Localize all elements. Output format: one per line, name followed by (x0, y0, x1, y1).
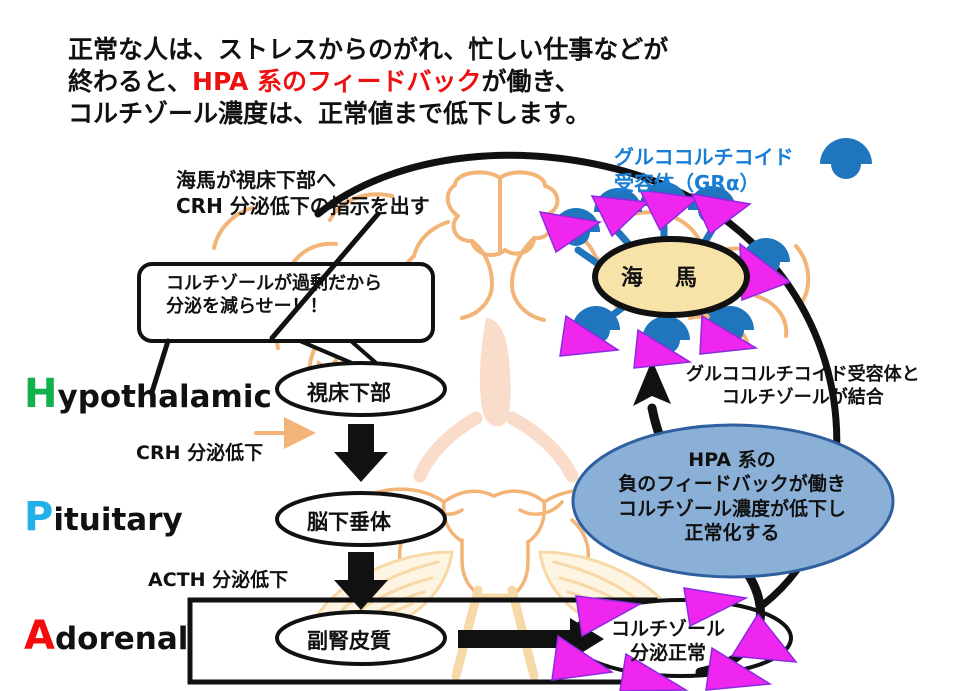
title-line-2-post: が働き、 (482, 67, 580, 96)
hippocampus-label: 海 馬 (621, 260, 702, 292)
title-line-3: コルチゾール濃度は、正常値まで低下します。 (68, 99, 591, 128)
title-line-2-pre: 終わると、 (68, 67, 192, 96)
hpa-rest-p: ituitary (53, 502, 182, 538)
cortisol-normal-line-2: 分泌正常 (630, 642, 706, 664)
hpa-label-hypothalamic: Hypothalamic (24, 371, 272, 417)
cortisol-normal-line-1: コルチゾール (611, 618, 725, 640)
hpa-initial-h: H (24, 371, 57, 417)
cortisol-normal-label: コルチゾール 分泌正常 (611, 617, 725, 666)
hpa-initial-p: P (24, 494, 53, 540)
title-line-1: 正常な人は、ストレスからのがれ、忙しい仕事などが (68, 35, 668, 64)
hypothalamus-label: 視床下部 (307, 377, 391, 407)
pituitary-label: 脳下垂体 (307, 506, 391, 536)
adrenal-cortex-label: 副腎皮質 (307, 625, 391, 655)
page-title: 正常な人は、ストレスからのがれ、忙しい仕事などが 終わると、HPA 系のフィード… (68, 34, 668, 130)
binding-annotation: グルココルチコイド受容体と コルチゾールが結合 (686, 363, 920, 409)
hpa-label-adorenal: Adorenal (24, 613, 188, 659)
hpa-initial-a: A (24, 613, 55, 659)
feedback-line-3: コルチゾール濃度が低下し (618, 498, 846, 520)
receptor-legend-label: グルココルチコイド 受容体（GRα） (614, 144, 794, 196)
hippocampus-order-annotation: 海馬が視床下部へ CRH 分泌低下の指示を出す (176, 168, 430, 219)
feedback-line-2: 負のフィードバックが働き (618, 473, 846, 495)
acth-secretion-label: ACTH 分泌低下 (148, 565, 288, 592)
speech-bubble-text: コルチゾールが過剰だから 分泌を減らせー！！ (166, 272, 382, 318)
hpa-rest-h: ypothalamic (57, 379, 271, 415)
diagram-canvas: 正常な人は、ストレスからのがれ、忙しい仕事などが 終わると、HPA 系のフィード… (0, 0, 980, 691)
crh-arrow (334, 424, 388, 482)
feedback-line-4: 正常化する (684, 522, 779, 544)
feedback-line-1: HPA 系の (688, 449, 775, 471)
receptor-legend-icon (820, 138, 872, 179)
crh-secretion-label: CRH 分泌低下 (136, 438, 263, 465)
feedback-description-text: HPA 系の 負のフィードバックが働き コルチゾール濃度が低下し 正常化する (600, 448, 864, 545)
hpa-label-pituitary: Pituitary (24, 494, 183, 540)
title-highlight: HPA 系のフィードバック (192, 67, 482, 96)
hpa-rest-a: dorenal (55, 621, 188, 657)
